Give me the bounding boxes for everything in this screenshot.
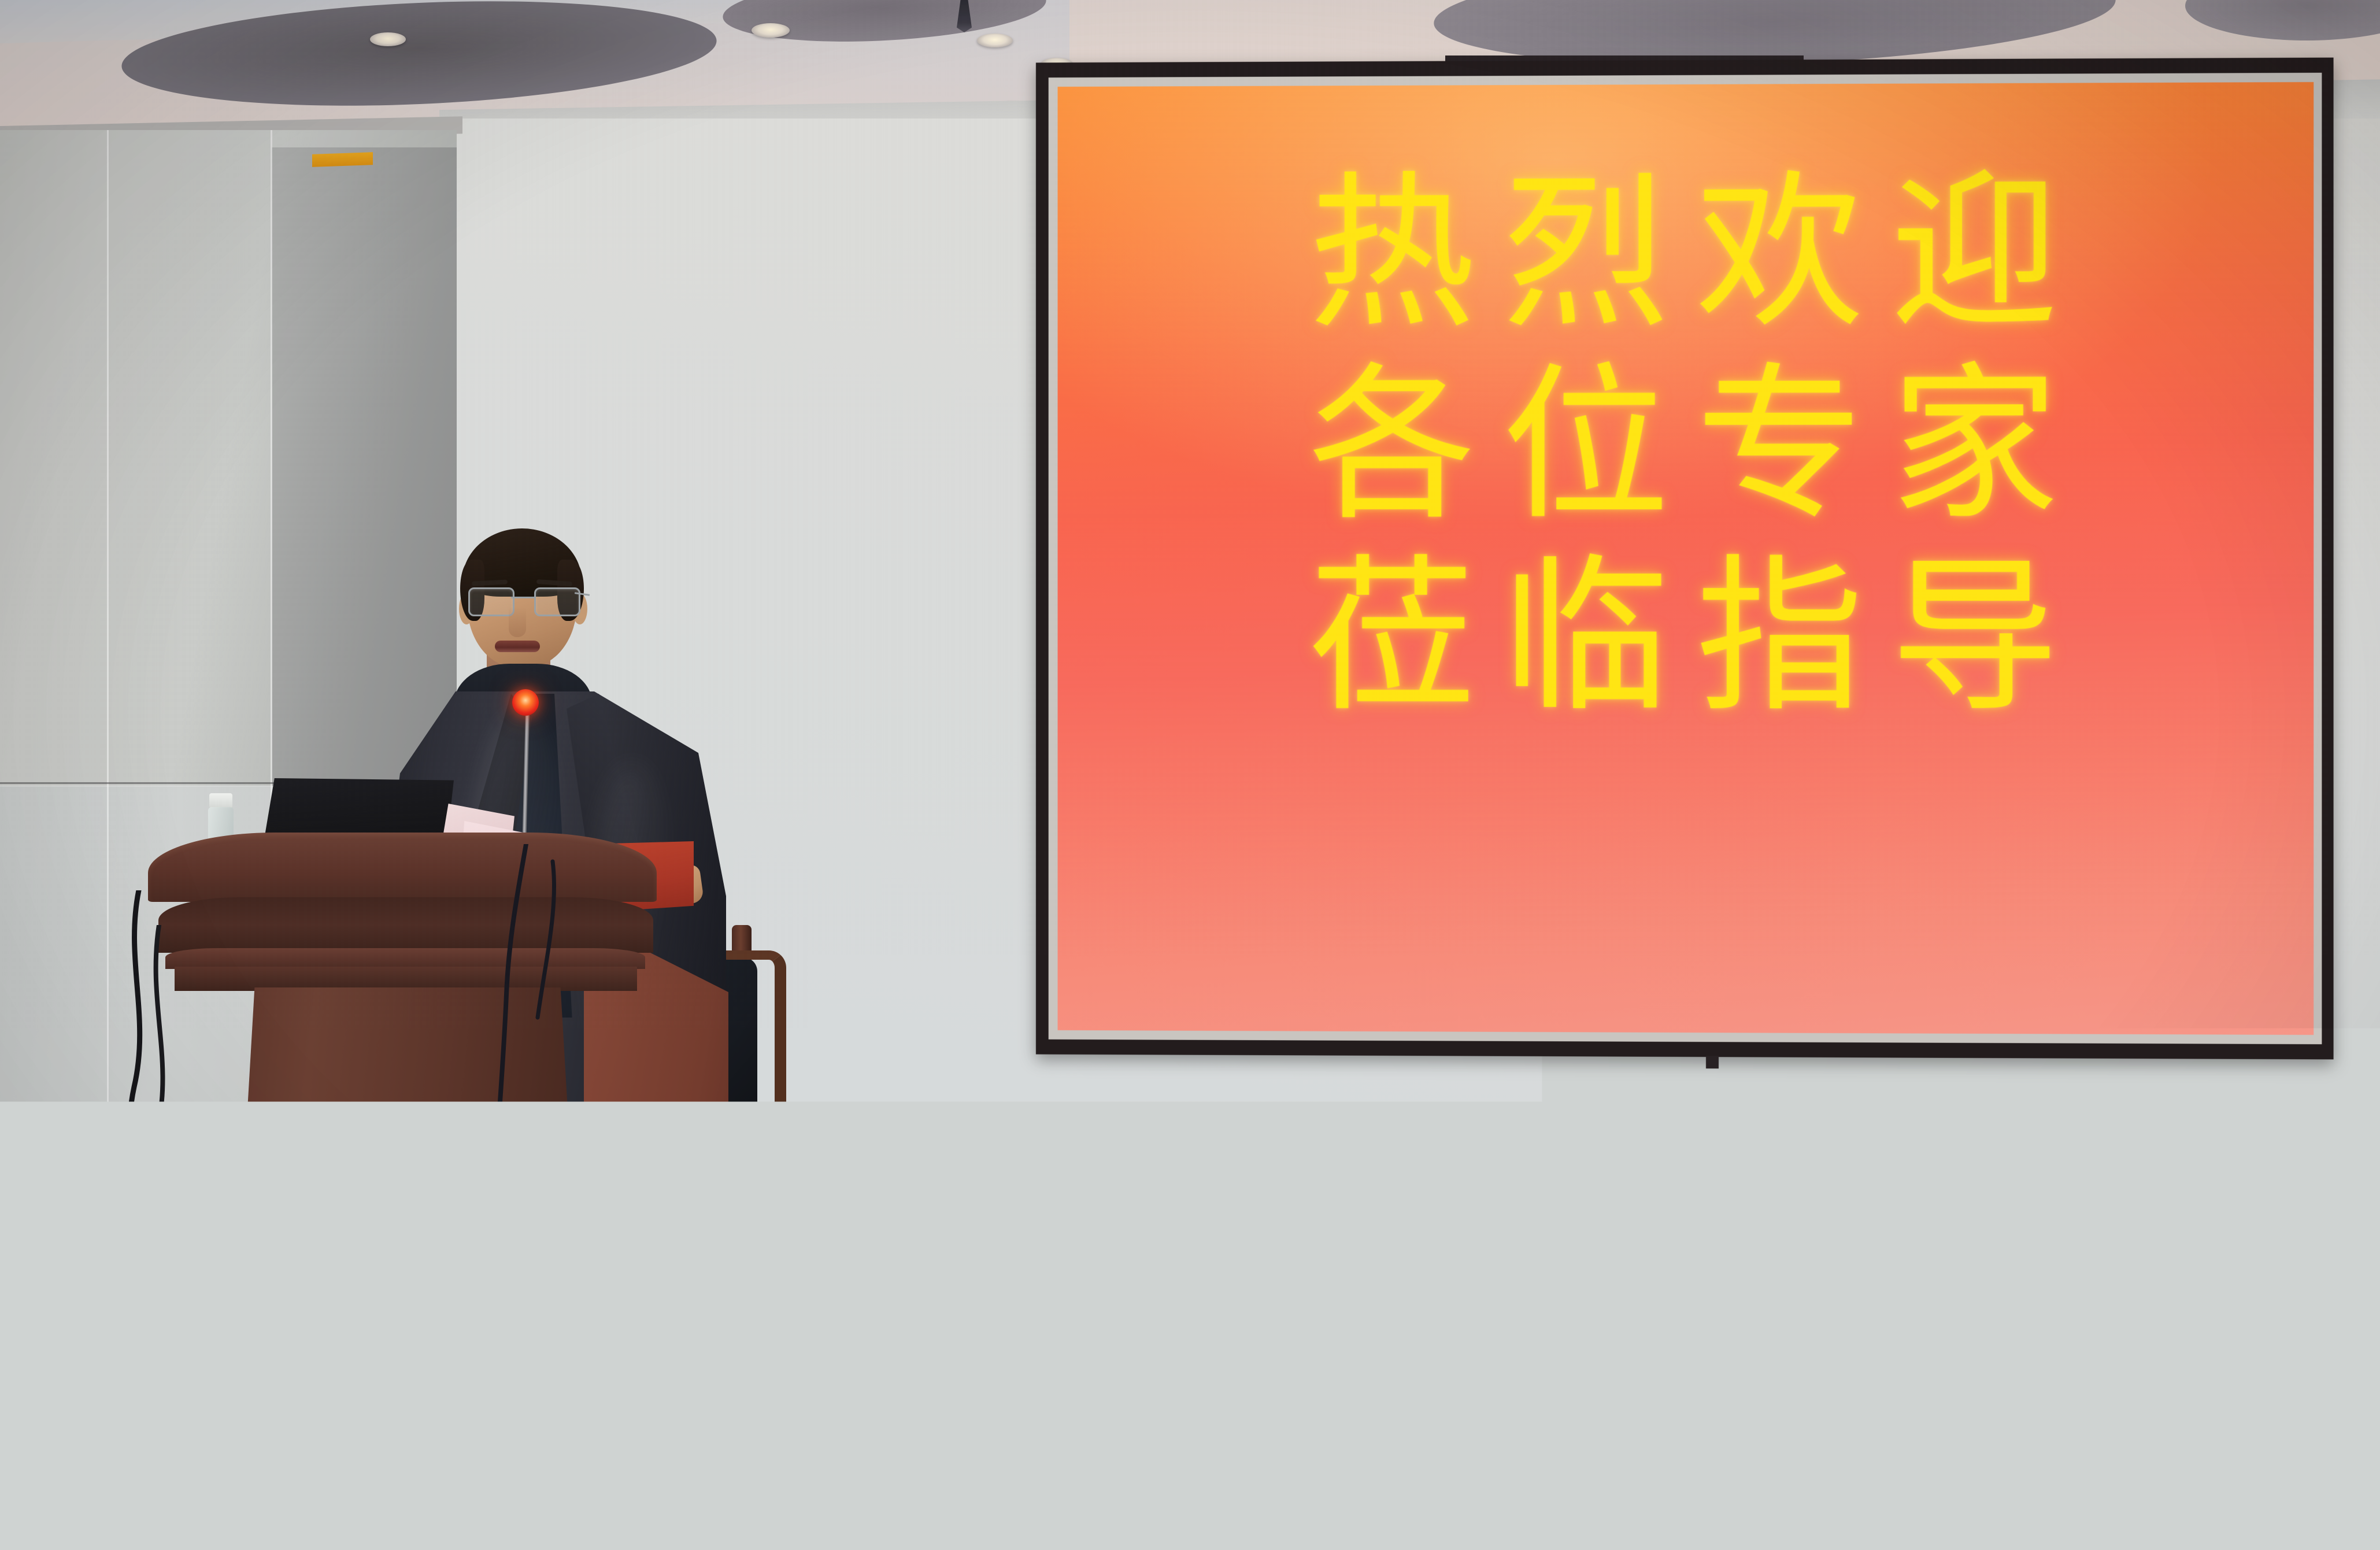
wall-yellow-sign <box>312 152 373 167</box>
conference-room-photo: 热烈欢迎 各位专家 莅临指导 专用座椅编号 <box>0 0 2380 1550</box>
glasses-lens <box>468 587 515 616</box>
downlight-icon <box>370 32 406 46</box>
panel-seam <box>107 130 109 789</box>
screen-mat: 热烈欢迎 各位专家 莅临指导 <box>1049 73 2322 1044</box>
slide-line-3: 莅临指导 <box>1282 554 2086 722</box>
slide-line-1: 热烈欢迎 <box>1282 168 2086 338</box>
nose <box>509 607 526 637</box>
outlet-hole <box>987 1341 993 1348</box>
glasses-lens <box>534 587 580 616</box>
outlet-hole <box>974 1341 980 1348</box>
slide-surface: 热烈欢迎 各位专家 莅临指导 <box>1058 82 2314 1035</box>
outlet-hole <box>975 1326 980 1331</box>
slide-line-2: 各位专家 <box>1282 361 2086 530</box>
downlight-icon <box>752 23 790 38</box>
mouth <box>495 641 540 652</box>
downlight-icon <box>977 34 1013 47</box>
outlet-hole <box>981 1336 985 1341</box>
chair-leg <box>738 1214 753 1388</box>
projection-screen[interactable]: 热烈欢迎 各位专家 莅临指导 <box>1036 58 2334 1060</box>
water-bottle-cap <box>209 793 232 808</box>
glasses-bridge <box>511 597 534 598</box>
panel-seam <box>271 130 272 789</box>
microphone-cable <box>439 844 647 1468</box>
outlet-hole <box>987 1326 993 1331</box>
screen-bottom-bracket <box>1706 1056 1719 1068</box>
slide-text-block: 热烈欢迎 各位专家 莅临指导 <box>1058 168 2314 722</box>
wall-outlet-icon <box>964 1316 1006 1355</box>
microphone-indicator-icon[interactable] <box>512 689 539 716</box>
podium-floor-shadow <box>104 1457 578 1521</box>
